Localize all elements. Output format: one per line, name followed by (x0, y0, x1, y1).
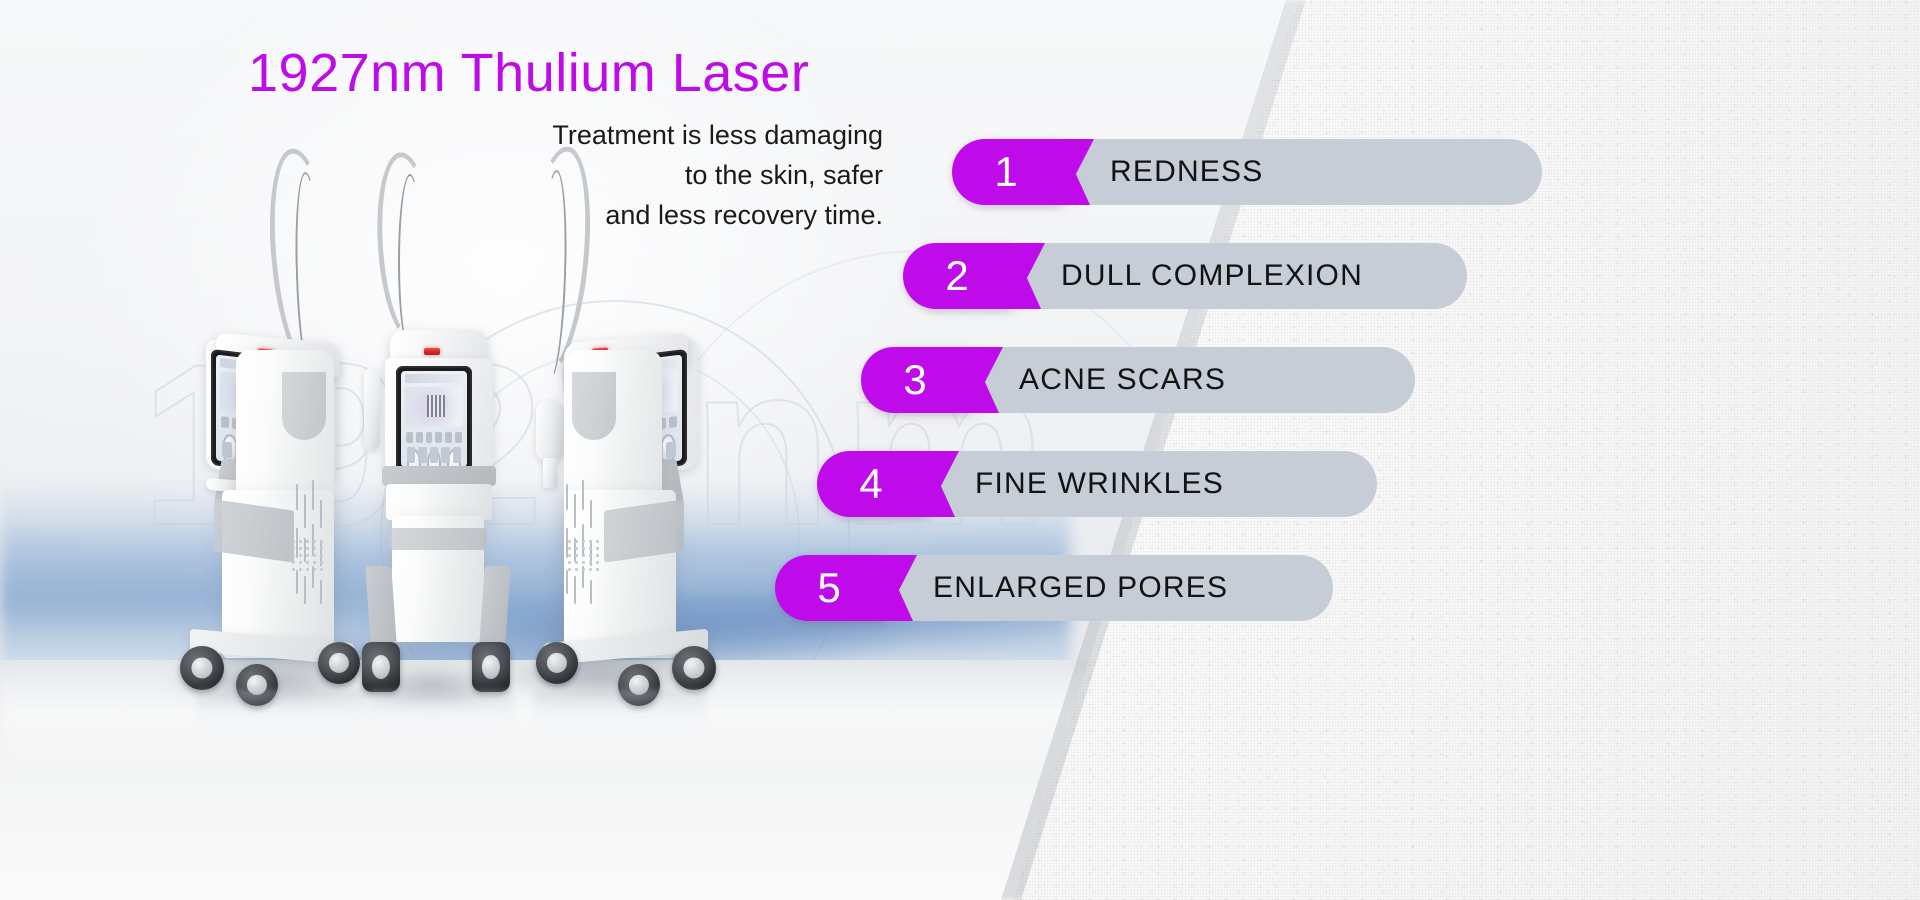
indication-row-1[interactable]: 1 REDNESS (952, 139, 1542, 205)
indication-row-5[interactable]: 5 ENLARGED PORES (775, 555, 1333, 621)
indication-number-5: 5 (775, 555, 883, 621)
indication-row-3[interactable]: 3 ACNE SCARS (861, 347, 1415, 413)
indication-bar-1[interactable]: REDNESS (1054, 139, 1542, 205)
indication-row-4[interactable]: 4 FINE WRINKLES (817, 451, 1377, 517)
indication-label-5: ENLARGED PORES (933, 571, 1228, 605)
indication-number-2: 2 (903, 243, 1011, 309)
indication-label-3: ACNE SCARS (1019, 363, 1226, 397)
indication-bar-5[interactable]: ENLARGED PORES (877, 555, 1333, 621)
indication-list: 1 REDNESS 2 DULL COMPLEXION 3 ACNE SCARS… (0, 0, 1920, 900)
banner-canvas: 1927nm (0, 0, 1920, 900)
indication-bar-2[interactable]: DULL COMPLEXION (1005, 243, 1467, 309)
indication-label-4: FINE WRINKLES (975, 467, 1224, 501)
indication-row-2[interactable]: 2 DULL COMPLEXION (903, 243, 1467, 309)
indication-label-2: DULL COMPLEXION (1061, 259, 1363, 293)
indication-bar-4[interactable]: FINE WRINKLES (919, 451, 1377, 517)
indication-number-1: 1 (952, 139, 1060, 205)
indication-number-3: 3 (861, 347, 969, 413)
indication-label-1: REDNESS (1110, 155, 1263, 189)
indication-bar-3[interactable]: ACNE SCARS (963, 347, 1415, 413)
indication-number-4: 4 (817, 451, 925, 517)
